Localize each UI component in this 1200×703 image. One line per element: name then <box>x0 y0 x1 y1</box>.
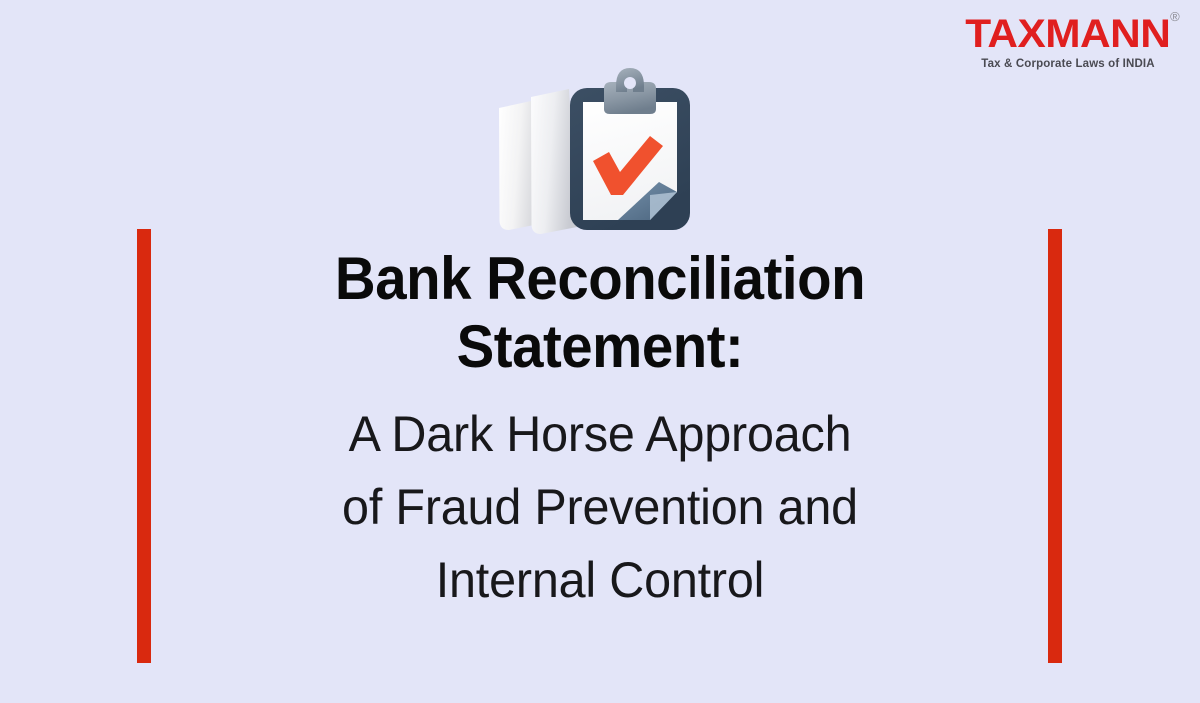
registered-trademark-icon: ® <box>1170 10 1180 23</box>
accent-rule-left <box>137 229 151 663</box>
page-subtitle-line-1: A Dark Horse Approach <box>183 398 1017 471</box>
logo-tagline: Tax & Corporate Laws of INDIA <box>968 59 1168 71</box>
article-banner: TAXMANN ® Tax & Corporate Laws of INDIA <box>0 0 1200 703</box>
page-title-line-1: Bank Reconciliation <box>196 245 1004 313</box>
page-title-line-2: Statement: <box>196 313 1004 381</box>
clip-hole <box>624 77 636 89</box>
accent-rule-right <box>1048 229 1062 663</box>
page-subtitle-line-2: of Fraud Prevention and <box>183 471 1017 544</box>
banner-text-block: Bank Reconciliation Statement: A Dark Ho… <box>170 245 1030 617</box>
page-subtitle-line-3: Internal Control <box>183 544 1017 617</box>
taxmann-logo[interactable]: TAXMANN ® Tax & Corporate Laws of INDIA <box>968 13 1168 71</box>
logo-wordmark-row: TAXMANN ® <box>971 13 1165 55</box>
clipboard-check-icon <box>487 64 702 239</box>
page-title: Bank Reconciliation Statement: <box>196 245 1004 381</box>
logo-wordmark: TAXMANN <box>965 13 1170 55</box>
page-subtitle: A Dark Horse Approach of Fraud Preventio… <box>183 398 1017 617</box>
